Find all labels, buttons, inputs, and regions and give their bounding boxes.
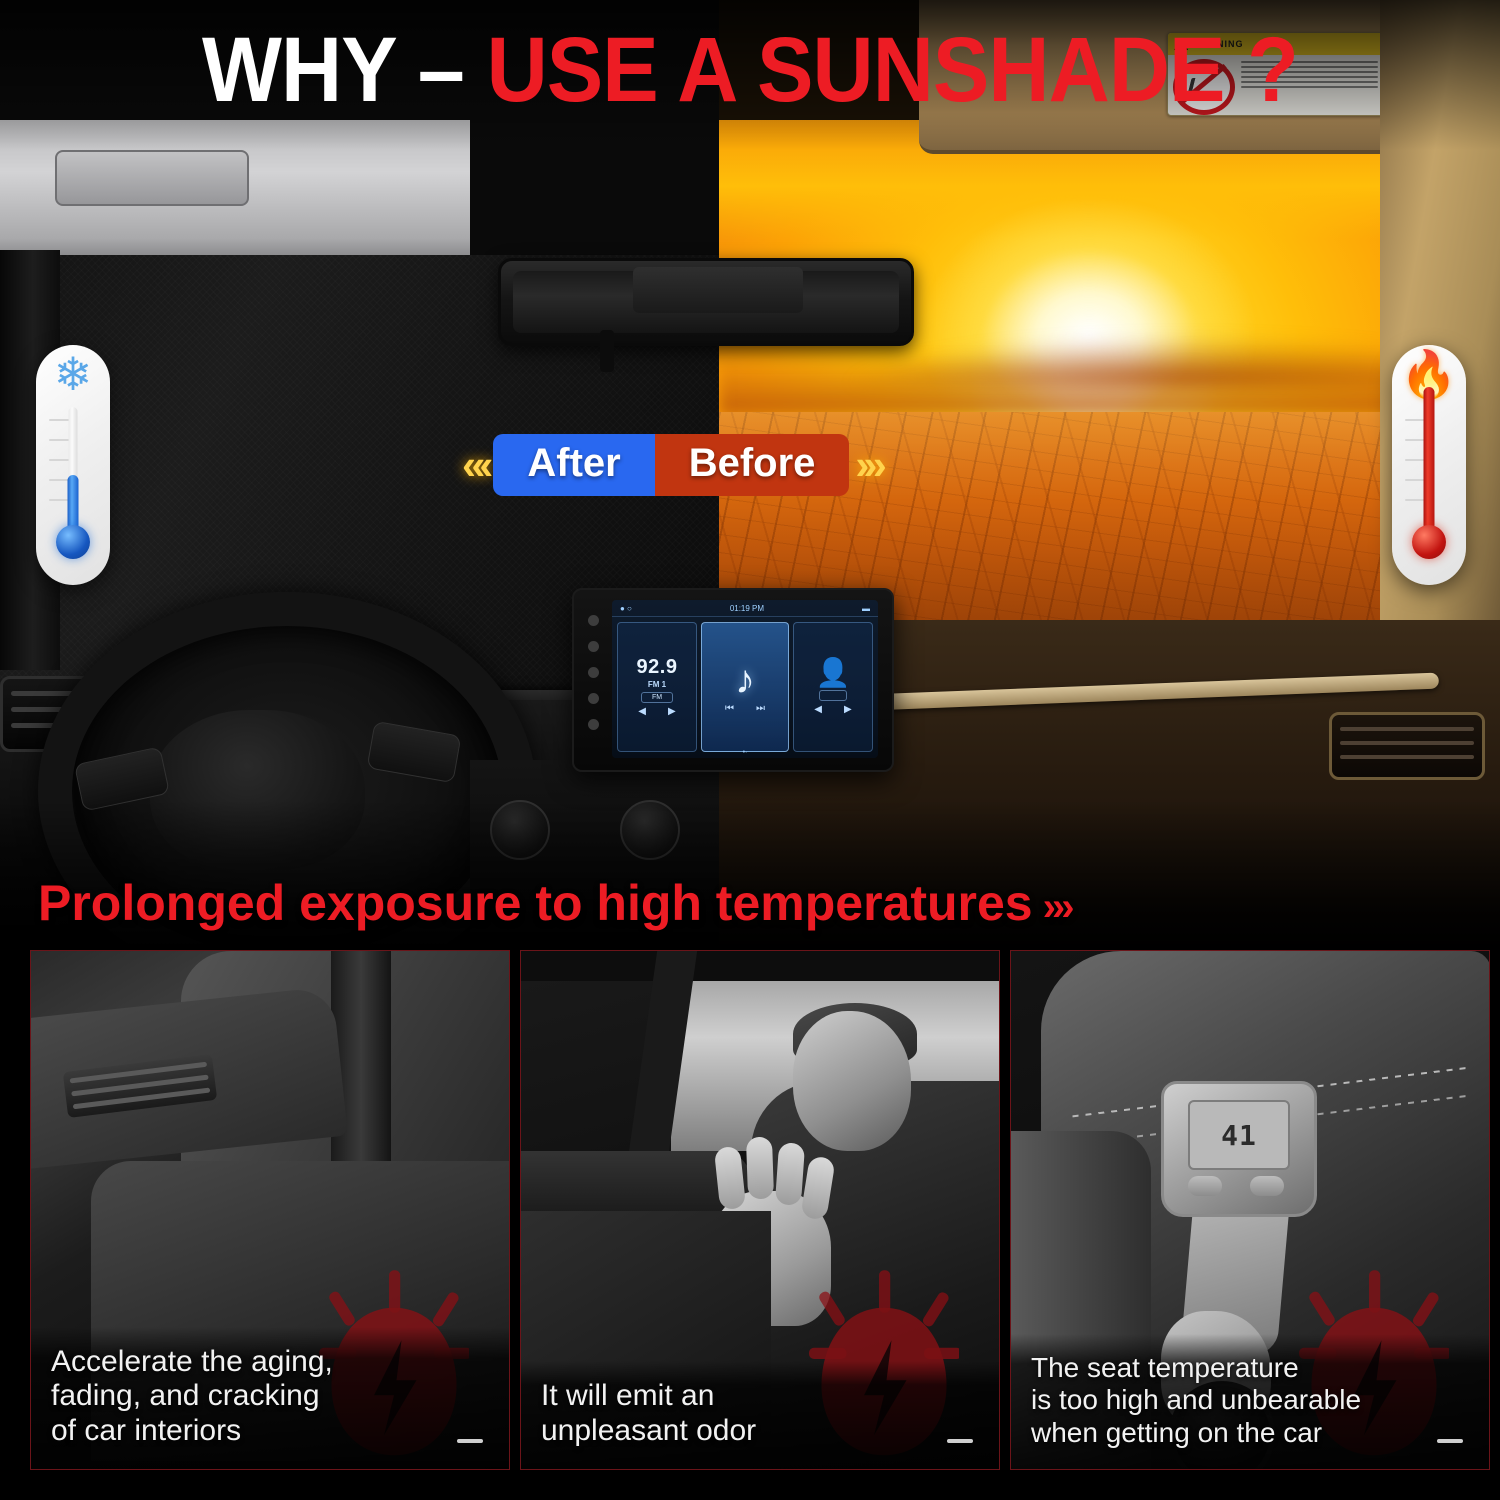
head-unit-status-bar: ● ○ 01:19 PM ▬ (612, 600, 878, 617)
head-unit-screen[interactable]: ● ○ 01:19 PM ▬ 92.9 FM 1 FM ◀▶ ♪ ⏮⏭ (612, 600, 878, 758)
hu-radio-frequency: 92.9 (637, 657, 678, 677)
chevron-left-icon: «‹ (456, 441, 493, 489)
headline-word-why: WHY (202, 19, 395, 121)
mirror-glass (513, 271, 899, 333)
hu-button-volume[interactable] (588, 667, 599, 678)
hero-before-after-image: WARNING (0, 0, 1500, 950)
after-badge[interactable]: After (493, 434, 654, 496)
hu-media-tile[interactable]: ♪ ⏮⏭ (701, 622, 789, 752)
subheading-text: Prolonged exposure to high temperatures (38, 875, 1033, 931)
panel-2-caption: It will emit an unpleasant odor (521, 1361, 999, 1469)
product-infographic: WARNING (0, 0, 1500, 1500)
panel-1-caption: Accelerate the aging, fading, and cracki… (31, 1327, 509, 1469)
music-note-icon: ♪ (735, 660, 755, 700)
finger-3 (775, 1142, 805, 1206)
subheading-arrows-icon: ››› (1043, 885, 1071, 929)
chevron-right-icon: ›» (849, 441, 886, 489)
panel-unpleasant-odor: It will emit an unpleasant odor (520, 950, 1000, 1470)
hu-radio-seek-controls[interactable]: ◀▶ (638, 706, 675, 717)
page-title: WHY – USE A SUNSHADE ? (60, 24, 1440, 116)
thermometer-button-left[interactable] (1188, 1176, 1222, 1196)
head-unit-tiles: 92.9 FM 1 FM ◀▶ ♪ ⏮⏭ 👤 ◀▶ (612, 617, 878, 757)
mirror-stem (600, 330, 614, 372)
thermometer-bulb-cold (56, 525, 90, 559)
infrared-thermometer: 41 (1161, 1081, 1317, 1217)
hu-preset-chip[interactable]: FM (641, 692, 673, 703)
hu-button-minus[interactable] (588, 719, 599, 730)
hu-media-controls[interactable]: ⏮⏭ (725, 703, 765, 714)
thermometer-cold: ❄ (36, 345, 110, 585)
hu-page-indicator: •· (743, 749, 748, 756)
panel-interior-aging: Accelerate the aging, fading, and cracki… (30, 950, 510, 1470)
before-after-toggle[interactable]: «‹ After Before ›» (456, 434, 887, 496)
before-badge[interactable]: Before (655, 434, 850, 496)
thermometer-hot: 🔥 (1392, 345, 1466, 585)
hu-radio-tile[interactable]: 92.9 FM 1 FM ◀▶ (617, 622, 697, 752)
hu-bluetooth-icon: ● ○ (620, 604, 632, 613)
subheading: Prolonged exposure to high temperatures›… (38, 878, 1071, 928)
hu-button-home[interactable] (588, 641, 599, 652)
hu-climate-tile[interactable]: 👤 ◀▶ (793, 622, 873, 752)
rear-seat-reflection (633, 267, 803, 313)
hu-button-power[interactable] (588, 615, 599, 626)
panel-1-dash-mark (457, 1439, 483, 1443)
panel-3-dash-mark (1437, 1439, 1463, 1443)
consequence-panels: Accelerate the aging, fading, and cracki… (0, 948, 1500, 1500)
hu-climate-controls[interactable]: ◀▶ (814, 704, 851, 715)
headline-dash: – (418, 19, 464, 121)
thermometer-bulb-hot (1412, 525, 1446, 559)
air-vent-right (1329, 712, 1485, 780)
ir-thermometer-group: 41 (1151, 1081, 1341, 1331)
thermometer-display: 41 (1188, 1100, 1290, 1170)
person-icon: 👤 (816, 659, 851, 687)
rearview-mirror (498, 258, 914, 346)
hu-seat-chip[interactable] (819, 690, 847, 701)
panel-2-dash-mark (947, 1439, 973, 1443)
visor-pocket-left (55, 150, 249, 206)
panel-3-caption: The seat temperature is too high and unb… (1011, 1334, 1489, 1469)
roof-line (521, 951, 1000, 981)
hu-clock: 01:19 PM (730, 604, 764, 613)
infotainment-head-unit[interactable]: ● ○ 01:19 PM ▬ 92.9 FM 1 FM ◀▶ ♪ ⏮⏭ (572, 588, 894, 772)
hu-signal-icon: ▬ (862, 604, 870, 613)
driver-face (793, 1011, 911, 1151)
thermometer-fill-hot (1424, 387, 1435, 533)
thermometer-reading: 41 (1221, 1119, 1257, 1152)
headline-phrase-red: USE A SUNSHADE ? (487, 19, 1298, 121)
hu-button-plus[interactable] (588, 693, 599, 704)
thermometer-button-right[interactable] (1250, 1176, 1284, 1196)
panel-seat-temperature: 41 (1010, 950, 1490, 1470)
head-unit-side-buttons[interactable] (578, 600, 608, 760)
snowflake-icon: ❄ (36, 351, 110, 397)
hu-radio-band: FM 1 (648, 680, 666, 689)
finger-2 (746, 1137, 774, 1200)
